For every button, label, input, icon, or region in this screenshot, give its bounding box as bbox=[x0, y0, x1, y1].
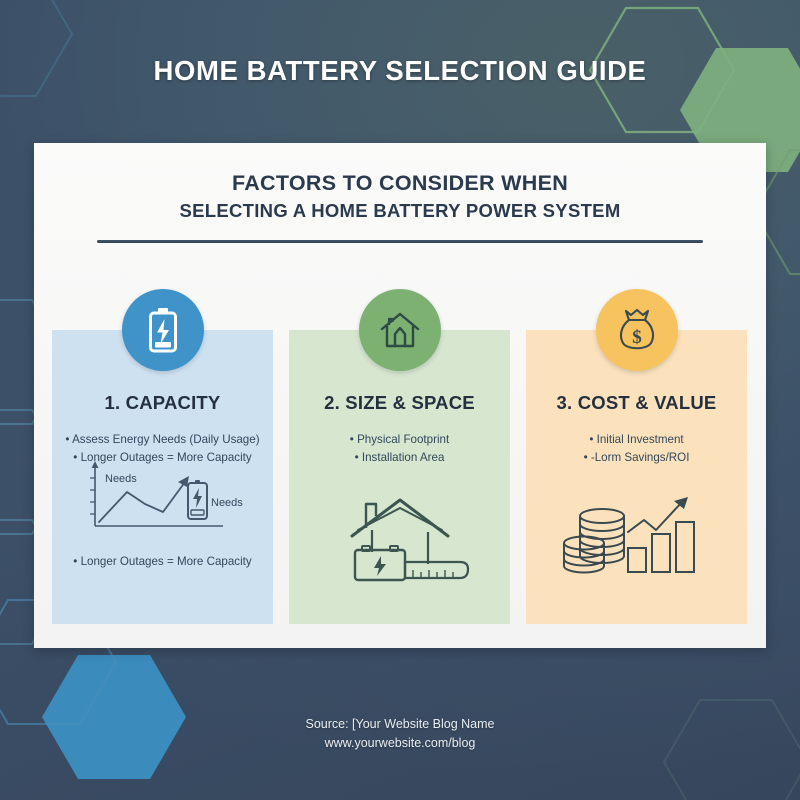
badge-cost-value: $ bbox=[596, 289, 678, 371]
house-battery-measuring-tape-illustration bbox=[320, 490, 480, 582]
badge-size-space bbox=[359, 289, 441, 371]
factor-trailing-bullet-capacity: Longer Outages = More Capacity bbox=[52, 555, 273, 568]
factor-bullets-cost-value: Initial Investment -Lorm Savings/ROI bbox=[526, 431, 747, 466]
badge-capacity bbox=[122, 289, 204, 371]
list-item: Assess Energy Needs (Daily Usage) bbox=[52, 431, 273, 449]
factor-title-capacity: 1. CAPACITY bbox=[52, 392, 273, 414]
footer-source-line: Source: [Your Website Blog Name bbox=[0, 715, 800, 734]
house-icon bbox=[379, 310, 421, 350]
factor-panel-size-space: 2. SIZE & SPACE Physical Footprint Insta… bbox=[289, 330, 510, 624]
card-heading: FACTORS TO CONSIDER WHEN SELECTING A HOM… bbox=[34, 170, 766, 223]
footer-source: Source: [Your Website Blog Name www.your… bbox=[0, 715, 800, 754]
chart-label-needs-left: Needs bbox=[105, 473, 137, 485]
growth-chart-battery-illustration: Needs Needs bbox=[73, 458, 253, 536]
factor-panel-capacity: 1. CAPACITY Assess Energy Needs (Daily U… bbox=[52, 330, 273, 624]
illustration-capacity: Needs Needs bbox=[52, 458, 273, 536]
coins-bar-chart-growth-illustration bbox=[562, 490, 712, 576]
svg-text:$: $ bbox=[632, 327, 642, 348]
chart-label-needs-right: Needs bbox=[211, 497, 243, 509]
page-title: HOME BATTERY SELECTION GUIDE bbox=[0, 55, 800, 87]
heading-divider bbox=[97, 240, 703, 243]
list-item: Initial Investment bbox=[526, 431, 747, 449]
factor-panel-cost-value: $ 3. COST & VALUE Initial Investment -Lo… bbox=[526, 330, 747, 624]
main-card: FACTORS TO CONSIDER WHEN SELECTING A HOM… bbox=[34, 143, 766, 648]
factor-title-cost-value: 3. COST & VALUE bbox=[526, 392, 747, 414]
factor-bullets-size-space: Physical Footprint Installation Area bbox=[289, 431, 510, 466]
infographic-canvas: HOME BATTERY SELECTION GUIDE FACTORS TO … bbox=[0, 0, 800, 800]
battery-icon bbox=[146, 307, 180, 353]
list-item: Physical Footprint bbox=[289, 431, 510, 449]
footer-url-line[interactable]: www.yourwebsite.com/blog bbox=[0, 734, 800, 753]
list-item: Installation Area bbox=[289, 449, 510, 467]
illustration-size-space bbox=[289, 490, 510, 582]
factor-title-size-space: 2. SIZE & SPACE bbox=[289, 392, 510, 414]
list-item: -Lorm Savings/ROI bbox=[526, 449, 747, 467]
factor-columns: 1. CAPACITY Assess Energy Needs (Daily U… bbox=[34, 330, 766, 630]
money-bag-icon: $ bbox=[617, 308, 657, 352]
illustration-cost-value bbox=[526, 490, 747, 576]
card-heading-line-2: SELECTING A HOME BATTERY POWER SYSTEM bbox=[34, 199, 766, 223]
card-heading-line-1: FACTORS TO CONSIDER WHEN bbox=[34, 170, 766, 197]
